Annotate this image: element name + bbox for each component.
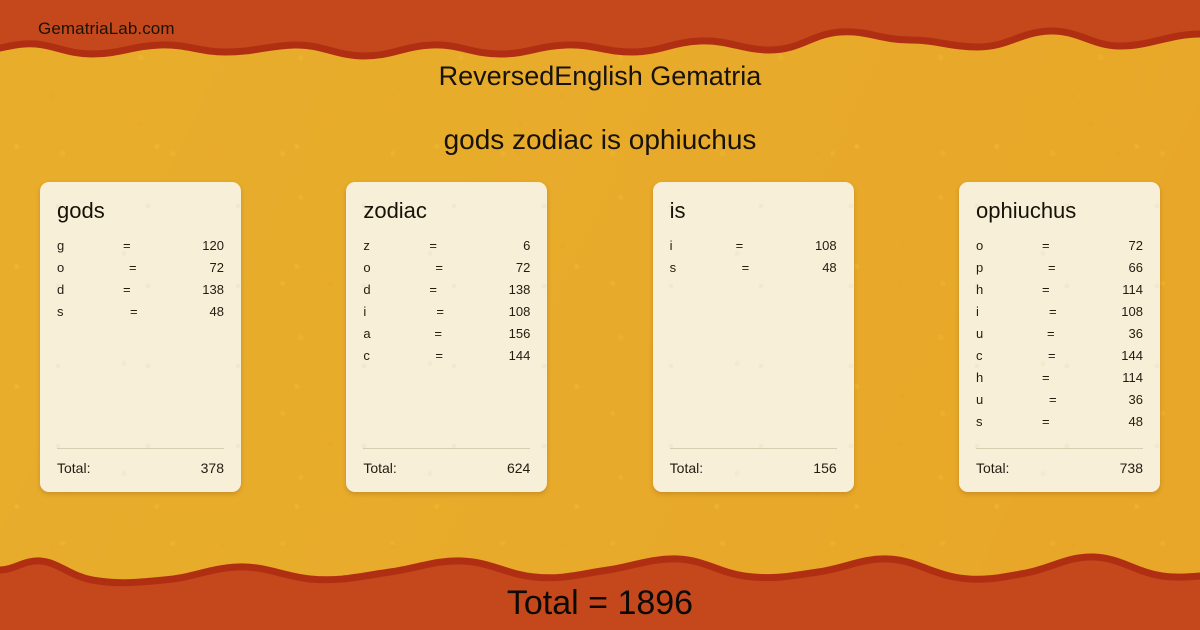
- letter-value: 114: [1086, 370, 1143, 385]
- card-word-title: zodiac: [363, 200, 530, 222]
- letter-value: 6: [473, 238, 530, 253]
- letter-row: z = 6: [363, 238, 530, 260]
- letter-label: i: [670, 238, 736, 253]
- letter-value: 108: [480, 304, 530, 319]
- card-word-title: gods: [57, 200, 224, 222]
- letter-label: p: [976, 260, 1042, 275]
- equals-sign: =: [736, 238, 780, 253]
- equals-sign: =: [429, 304, 480, 319]
- letter-value: 72: [479, 260, 530, 275]
- equals-sign: =: [123, 304, 174, 319]
- letter-row: s = 48: [57, 304, 224, 326]
- letter-label: u: [976, 392, 1042, 407]
- phrase-subtitle: gods zodiac is ophiuchus: [0, 124, 1200, 156]
- word-card: gods g = 120 o = 72 d = 138 s: [40, 182, 241, 492]
- equals-sign: =: [123, 282, 167, 297]
- word-card-list: gods g = 120 o = 72 d = 138 s: [40, 182, 1160, 492]
- card-total-label: Total:: [976, 460, 1009, 476]
- letter-value-rows: i = 108 s = 48: [670, 238, 837, 448]
- card-total-value: 378: [201, 460, 224, 476]
- equals-sign: =: [1042, 414, 1086, 429]
- letter-label: d: [363, 282, 429, 297]
- letter-value: 144: [1092, 348, 1143, 363]
- letter-value: 72: [173, 260, 224, 275]
- letter-value: 66: [1092, 260, 1143, 275]
- gematria-poster: GematriaLab.com ReversedEnglish Gematria…: [0, 0, 1200, 630]
- card-total-value: 156: [813, 460, 836, 476]
- equals-sign: =: [1042, 282, 1086, 297]
- letter-label: u: [976, 326, 1042, 341]
- letter-label: o: [363, 260, 429, 275]
- equals-sign: =: [429, 282, 473, 297]
- card-total-value: 624: [507, 460, 530, 476]
- letter-row: s = 48: [976, 414, 1143, 436]
- top-wave-band: [0, 0, 1200, 70]
- equals-sign: =: [123, 260, 173, 275]
- letter-row: g = 120: [57, 238, 224, 260]
- letter-row: h = 114: [976, 370, 1143, 392]
- equals-sign: =: [429, 260, 479, 275]
- equals-sign: =: [1042, 238, 1086, 253]
- letter-label: g: [57, 238, 123, 253]
- letter-value: 36: [1091, 326, 1143, 341]
- card-total-row: Total: 156: [670, 448, 837, 492]
- card-total-label: Total:: [363, 460, 396, 476]
- letter-row: a = 156: [363, 326, 530, 348]
- letter-value: 138: [167, 282, 224, 297]
- letter-row: o = 72: [57, 260, 224, 282]
- card-word-title: ophiuchus: [976, 200, 1143, 222]
- equals-sign: =: [429, 348, 479, 363]
- letter-label: s: [670, 260, 736, 275]
- letter-row: c = 144: [976, 348, 1143, 370]
- letter-value-rows: z = 6 o = 72 d = 138 i = 108: [363, 238, 530, 448]
- letter-label: i: [363, 304, 429, 319]
- card-word-title: is: [670, 200, 837, 222]
- letter-value: 108: [1093, 304, 1143, 319]
- equals-sign: =: [1042, 348, 1092, 363]
- equals-sign: =: [429, 238, 473, 253]
- card-total-row: Total: 378: [57, 448, 224, 492]
- letter-value: 120: [167, 238, 224, 253]
- letter-value: 108: [780, 238, 837, 253]
- letter-row: u = 36: [976, 326, 1143, 348]
- card-total-row: Total: 738: [976, 448, 1143, 492]
- page-title: ReversedEnglish Gematria: [0, 61, 1200, 92]
- letter-row: i = 108: [670, 238, 837, 260]
- letter-label: h: [976, 282, 1042, 297]
- letter-row: i = 108: [363, 304, 530, 326]
- equals-sign: =: [1042, 392, 1093, 407]
- letter-row: o = 72: [976, 238, 1143, 260]
- letter-label: c: [976, 348, 1042, 363]
- letter-row: d = 138: [57, 282, 224, 304]
- letter-row: s = 48: [670, 260, 837, 282]
- letter-label: c: [363, 348, 429, 363]
- word-card: is i = 108 s = 48 Total: 156: [653, 182, 854, 492]
- letter-label: i: [976, 304, 1042, 319]
- equals-sign: =: [1042, 326, 1091, 341]
- equals-sign: =: [1042, 260, 1092, 275]
- equals-sign: =: [736, 260, 786, 275]
- equals-sign: =: [1042, 370, 1086, 385]
- letter-value-rows: o = 72 p = 66 h = 114 i = 108: [976, 238, 1143, 448]
- equals-sign: =: [1042, 304, 1093, 319]
- letter-label: z: [363, 238, 429, 253]
- letter-label: o: [976, 238, 1042, 253]
- letter-row: c = 144: [363, 348, 530, 370]
- letter-value: 48: [786, 260, 837, 275]
- letter-label: s: [57, 304, 123, 319]
- letter-value: 48: [174, 304, 224, 319]
- letter-value: 36: [1093, 392, 1143, 407]
- letter-row: u = 36: [976, 392, 1143, 414]
- card-total-label: Total:: [670, 460, 703, 476]
- letter-value: 114: [1086, 282, 1143, 297]
- letter-row: o = 72: [363, 260, 530, 282]
- letter-row: p = 66: [976, 260, 1143, 282]
- card-total-row: Total: 624: [363, 448, 530, 492]
- letter-value: 156: [478, 326, 530, 341]
- letter-value: 138: [473, 282, 530, 297]
- card-total-value: 738: [1120, 460, 1143, 476]
- letter-value: 144: [479, 348, 530, 363]
- letter-value: 48: [1086, 414, 1143, 429]
- site-watermark: GematriaLab.com: [38, 19, 175, 39]
- letter-row: d = 138: [363, 282, 530, 304]
- grand-total: Total = 1896: [0, 584, 1200, 623]
- card-total-label: Total:: [57, 460, 90, 476]
- letter-row: i = 108: [976, 304, 1143, 326]
- letter-label: o: [57, 260, 123, 275]
- letter-value: 72: [1086, 238, 1143, 253]
- letter-label: h: [976, 370, 1042, 385]
- word-card: zodiac z = 6 o = 72 d = 138 i: [346, 182, 547, 492]
- letter-row: h = 114: [976, 282, 1143, 304]
- letter-label: s: [976, 414, 1042, 429]
- letter-value-rows: g = 120 o = 72 d = 138 s = 48: [57, 238, 224, 448]
- word-card: ophiuchus o = 72 p = 66 h = 114: [959, 182, 1160, 492]
- equals-sign: =: [429, 326, 478, 341]
- letter-label: d: [57, 282, 123, 297]
- letter-label: a: [363, 326, 429, 341]
- equals-sign: =: [123, 238, 167, 253]
